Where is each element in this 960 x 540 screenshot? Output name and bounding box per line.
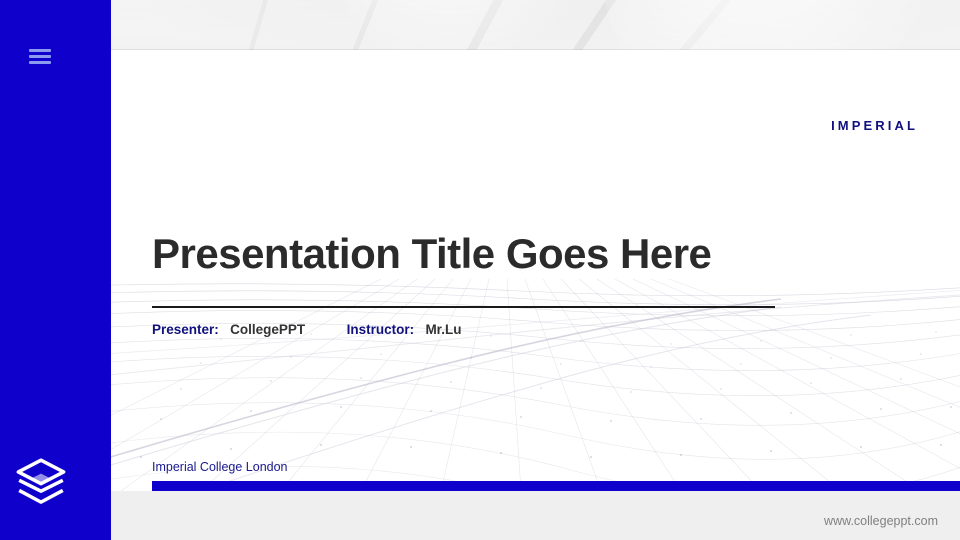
- instructor-value: Mr.Lu: [425, 322, 461, 337]
- slide-accent-bar: [152, 481, 960, 491]
- presenter-value: CollegePPT: [230, 322, 305, 337]
- hamburger-bar-1: [29, 49, 51, 52]
- hamburger-bar-2: [29, 55, 51, 58]
- presentation-canvas: IMPERIAL Presentation Title Goes Here Pr…: [0, 0, 960, 540]
- title-divider-rule: [152, 306, 775, 308]
- slide-title: Presentation Title Goes Here: [152, 230, 711, 278]
- backdrop-sheen-right: [600, 0, 960, 50]
- slide-meta-line: Presenter: CollegePPT Instructor: Mr.Lu: [152, 322, 461, 337]
- site-watermark: www.collegeppt.com: [824, 514, 938, 528]
- layers-stack-logo-icon[interactable]: [14, 456, 68, 508]
- instructor-label: Instructor:: [347, 322, 415, 337]
- presenter-label: Presenter:: [152, 322, 219, 337]
- sidebar-rail: [0, 0, 111, 540]
- hamburger-bar-3: [29, 61, 51, 64]
- hamburger-menu-icon[interactable]: [29, 48, 51, 66]
- slide-footer-institution: Imperial College London: [152, 460, 288, 474]
- backdrop-swoosh-decoration: [0, 0, 960, 50]
- imperial-brand-label: IMPERIAL: [831, 118, 918, 133]
- wireframe-mesh-decoration: [81, 261, 960, 491]
- slide-surface: IMPERIAL Presentation Title Goes Here Pr…: [81, 50, 960, 491]
- backdrop-sheen-left: [330, 0, 630, 50]
